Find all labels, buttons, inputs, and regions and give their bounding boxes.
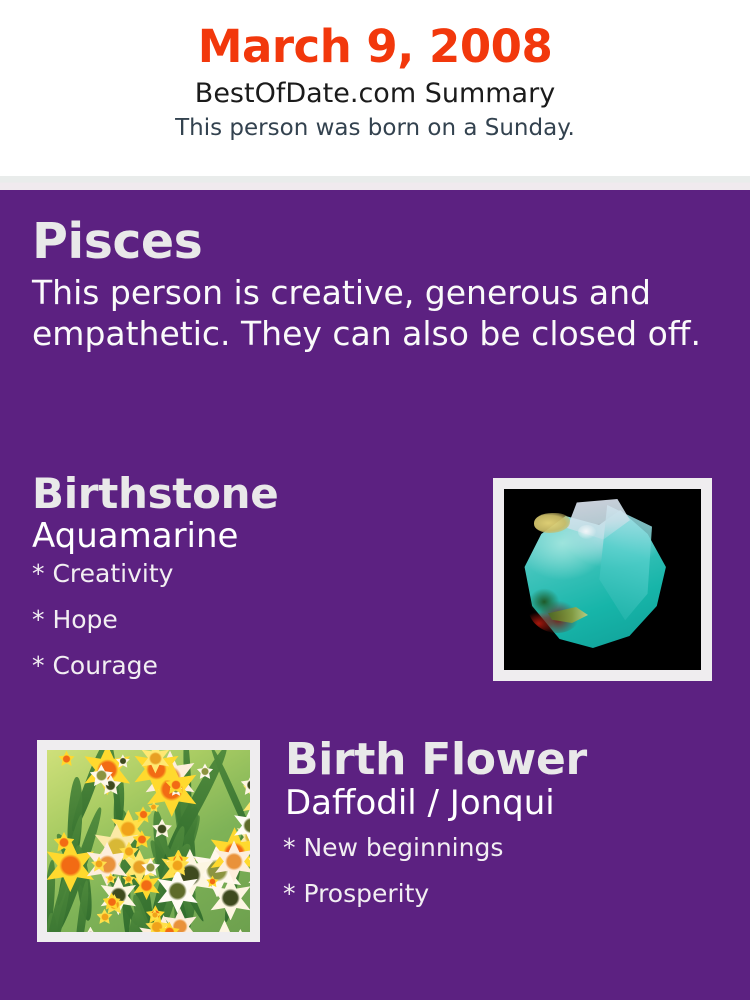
header-divider bbox=[0, 176, 750, 190]
list-item: * Courage bbox=[32, 653, 472, 699]
list-item: * New beginnings bbox=[283, 835, 733, 881]
birthstone-name: Aquamarine bbox=[32, 516, 472, 555]
birth-flower-image-frame bbox=[37, 740, 260, 942]
birthstone-image-frame bbox=[493, 478, 712, 681]
birthstone-trait-list: * Creativity * Hope * Courage bbox=[32, 555, 472, 699]
crystal-specular-highlight bbox=[578, 525, 596, 539]
flower-bloom bbox=[198, 920, 250, 932]
page-header: March 9, 2008 BestOfDate.com Summary Thi… bbox=[0, 0, 750, 176]
flower-bloom-small bbox=[58, 751, 74, 767]
list-item: * Prosperity bbox=[283, 881, 733, 927]
born-day-text: This person was born on a Sunday. bbox=[0, 107, 750, 140]
birth-flower-section: Birth Flower Daffodil / Jonqui * New beg… bbox=[283, 737, 733, 927]
list-item: * Hope bbox=[32, 607, 472, 653]
flower-bloom-small bbox=[241, 774, 250, 796]
list-item: * Creativity bbox=[32, 561, 472, 607]
birthstone-photo bbox=[504, 489, 701, 670]
site-summary-label: BestOfDate.com Summary bbox=[0, 69, 750, 107]
page-title: March 9, 2008 bbox=[0, 0, 750, 69]
birth-flower-name: Daffodil / Jonqui bbox=[283, 783, 733, 822]
zodiac-description: This person is creative, generous and em… bbox=[32, 267, 702, 354]
zodiac-sign-name: Pisces bbox=[32, 216, 712, 267]
birthstone-section: Birthstone Aquamarine * Creativity * Hop… bbox=[32, 472, 472, 699]
birth-flower-trait-list: * New beginnings * Prosperity bbox=[283, 823, 733, 927]
zodiac-section: Pisces This person is creative, generous… bbox=[32, 216, 712, 354]
birthstone-heading: Birthstone bbox=[32, 472, 472, 516]
summary-body: Pisces This person is creative, generous… bbox=[0, 190, 750, 1000]
flower-bloom-small bbox=[232, 929, 249, 932]
summary-page: March 9, 2008 BestOfDate.com Summary Thi… bbox=[0, 0, 750, 1000]
birth-flower-photo bbox=[47, 750, 250, 932]
birth-flower-heading: Birth Flower bbox=[283, 737, 733, 783]
